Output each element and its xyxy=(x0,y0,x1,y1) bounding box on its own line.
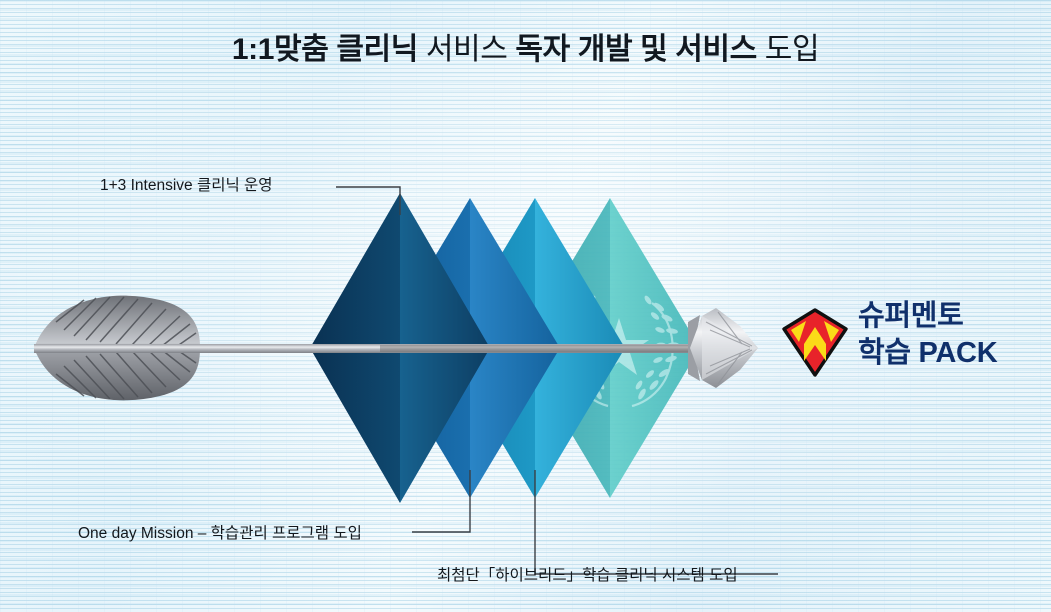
arrow-head xyxy=(688,308,758,388)
brand-logo-text: 슈퍼멘토 학습 PACK xyxy=(858,298,1040,372)
callout-label-left-bottom: One day Mission – 학습관리 프로그램 도입 xyxy=(78,521,362,543)
superman-shield-m-icon xyxy=(778,305,852,379)
brand-logo-line-1: 슈퍼멘토 xyxy=(858,298,1040,335)
callout-label-bottom: 최첨단「하이브리드」학습 클리닉 시스템 도입 xyxy=(437,563,738,585)
callout-label-top: 1+3 Intensive 클리닉 운영 xyxy=(100,173,273,195)
brand-logo: 슈퍼멘토 학습 PACK xyxy=(778,300,1040,388)
arrow-fletching xyxy=(34,296,210,401)
brand-logo-line-2: 학습 PACK xyxy=(858,335,1040,372)
arrow-shaft-shadow xyxy=(380,345,700,352)
